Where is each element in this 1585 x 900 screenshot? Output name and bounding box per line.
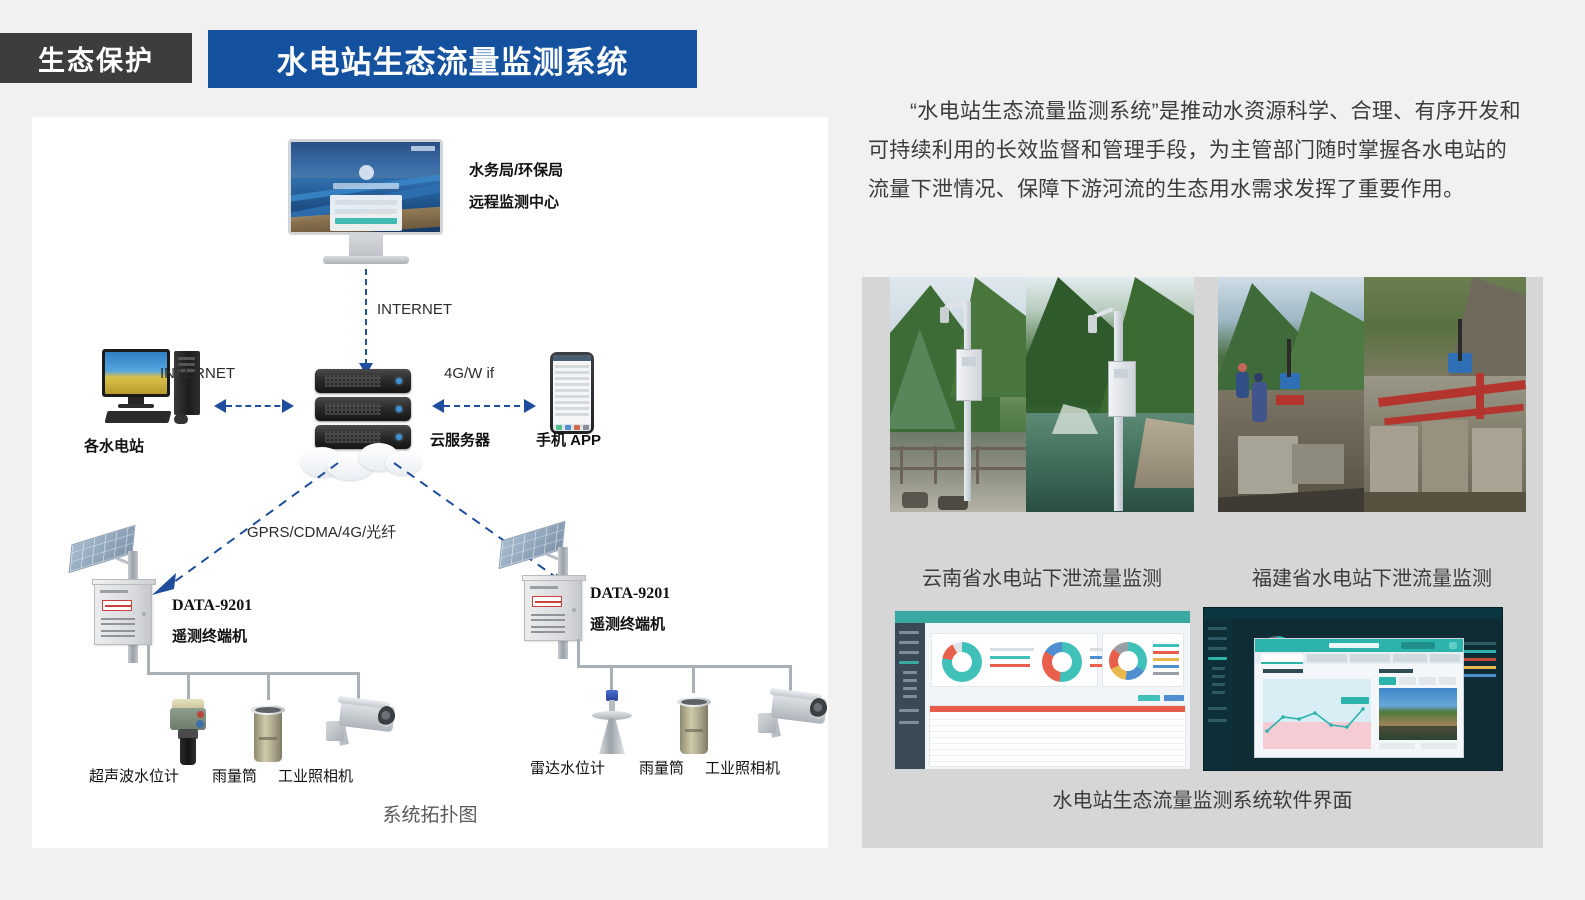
server-unit-1	[315, 369, 411, 393]
sw1-topbar	[895, 611, 1190, 623]
sw2-topbar	[1204, 608, 1502, 619]
sw2-site-photo	[1379, 688, 1457, 740]
left-station-type: 遥测终端机	[172, 625, 247, 646]
monitor-label-line2: 远程监测中心	[469, 191, 559, 212]
photo-fujian-2	[1364, 277, 1526, 512]
pc-monitor-foot	[118, 404, 154, 408]
solar-panel	[69, 525, 136, 573]
sw1-chart-card-right	[1102, 633, 1184, 687]
phone-body	[550, 352, 594, 434]
software-screenshot-detail	[1203, 607, 1503, 771]
node-label-cloud-server: 云服务器	[430, 429, 490, 450]
right-bus-branch-2	[692, 665, 695, 693]
server-unit-2	[315, 397, 411, 421]
screen-logo	[411, 146, 435, 151]
sw1-body	[925, 623, 1190, 769]
phone-screen	[553, 355, 591, 431]
page-title: 水电站生态流量监测系统	[208, 30, 697, 88]
hydropower-station-pc	[102, 349, 210, 431]
pc-mouse	[174, 414, 188, 424]
photo-yunnan-2	[1026, 277, 1194, 512]
link-label-wireless: 4G/W if	[444, 365, 494, 382]
link-label-internet-horizontal: INTERNET	[160, 365, 235, 382]
right-industrial-camera	[758, 689, 828, 747]
monitor-neck	[349, 235, 383, 257]
right-rain-gauge	[677, 697, 711, 757]
left-bus-branch-1	[187, 672, 190, 700]
sw1-sidebar	[895, 623, 925, 769]
node-label-phone-app: 手机 APP	[536, 429, 601, 450]
photo-caption-yunnan: 云南省水电站下泄流量监测	[890, 562, 1194, 591]
right-sensor-label-3: 工业照相机	[705, 757, 780, 778]
photo-fujian-1	[1218, 277, 1364, 512]
mobile-app-phone	[550, 352, 598, 438]
arrow-right-to-server-from-pc	[282, 399, 294, 413]
sw2-modal-tabs[interactable]	[1255, 652, 1463, 664]
screen-app-title	[333, 183, 399, 189]
left-industrial-camera	[326, 697, 396, 755]
photo-group-yunnan	[890, 277, 1194, 512]
remote-monitoring-center-monitor	[288, 139, 443, 269]
connector-monitor-to-server	[365, 269, 367, 365]
rtu-cabinet	[524, 579, 582, 641]
arrow-left-to-pc	[214, 399, 226, 413]
connector-pc-to-server	[226, 405, 290, 407]
sw2-image-tabs[interactable]	[1379, 677, 1457, 685]
left-sensor-label-2: 雨量筒	[212, 765, 257, 786]
connector-server-to-phone	[444, 405, 530, 407]
right-bus-branch-1	[610, 665, 613, 693]
left-sensor-label-1: 超声波水位计	[89, 765, 179, 786]
page-header: 生态保护 水电站生态流量监测系统	[0, 30, 720, 88]
photo-group-fujian	[1218, 277, 1526, 512]
right-bus-drop	[577, 639, 580, 667]
topology-diagram-panel: 水务局/环保局 远程监测中心 INTERNET 各水电站 INTERNET	[32, 117, 828, 848]
gallery-panel: 云南省水电站下泄流量监测 福建省水电站下泄流量监测	[862, 277, 1543, 848]
right-sensor-label-2: 雨量筒	[639, 757, 684, 778]
arrow-right-to-phone	[524, 399, 536, 413]
ultrasonic-water-level-sensor	[168, 699, 208, 765]
screen-login-pass-row	[335, 209, 397, 214]
right-station-model: DATA-9201	[590, 585, 670, 603]
software-screenshot-dashboard	[894, 610, 1191, 770]
radar-water-level-sensor	[590, 690, 634, 756]
monitor-label-line1: 水务局/环保局	[469, 159, 563, 180]
sw2-line-chart	[1263, 679, 1371, 749]
sw1-query-button[interactable]	[1138, 695, 1160, 701]
sw2-detail-modal	[1254, 638, 1464, 758]
left-rain-gauge	[251, 705, 285, 765]
screen-app-icon	[359, 165, 374, 180]
pc-keyboard	[105, 411, 172, 423]
rtu-cabinet	[94, 583, 152, 645]
link-label-internet-vertical: INTERNET	[377, 301, 452, 318]
right-station-type: 遥测终端机	[590, 613, 665, 634]
sw1-chart-card-left	[931, 633, 1098, 687]
photo-caption-fujian: 福建省水电站下泄流量监测	[1218, 562, 1526, 591]
sw2-modal-header	[1255, 639, 1463, 652]
screen-login-box	[330, 195, 402, 231]
server-unit-3	[315, 425, 411, 449]
left-bus-branch-3	[357, 672, 360, 700]
left-bus-drop	[147, 645, 150, 675]
monitor-screen	[288, 139, 443, 235]
left-sensor-label-3: 工业照相机	[278, 765, 353, 786]
arrow-left-to-server-from-phone	[432, 399, 444, 413]
screen-login-button	[335, 218, 397, 224]
left-bus-horizontal	[147, 672, 360, 675]
photo-yunnan-1	[890, 277, 1026, 512]
intro-paragraph: “水电站生态流量监测系统”是推动水资源科学、合理、有序开发和可持续利用的长效监督…	[868, 92, 1528, 209]
monitor-base	[323, 256, 409, 264]
pc-tower	[174, 351, 200, 415]
sw1-data-table	[929, 705, 1186, 767]
category-badge: 生态保护	[0, 33, 192, 83]
right-sensor-label-1: 雷达水位计	[530, 757, 605, 778]
left-bus-branch-2	[267, 672, 270, 700]
left-station-model: DATA-9201	[172, 597, 252, 615]
topology-caption: 系统拓扑图	[32, 800, 828, 827]
node-label-pc: 各水电站	[84, 435, 144, 456]
screen-login-user-row	[335, 200, 397, 205]
software-caption: 水电站生态流量监测系统软件界面	[862, 784, 1543, 813]
sw1-export-button[interactable]	[1164, 695, 1184, 701]
sw2-sidebar	[1204, 619, 1232, 770]
